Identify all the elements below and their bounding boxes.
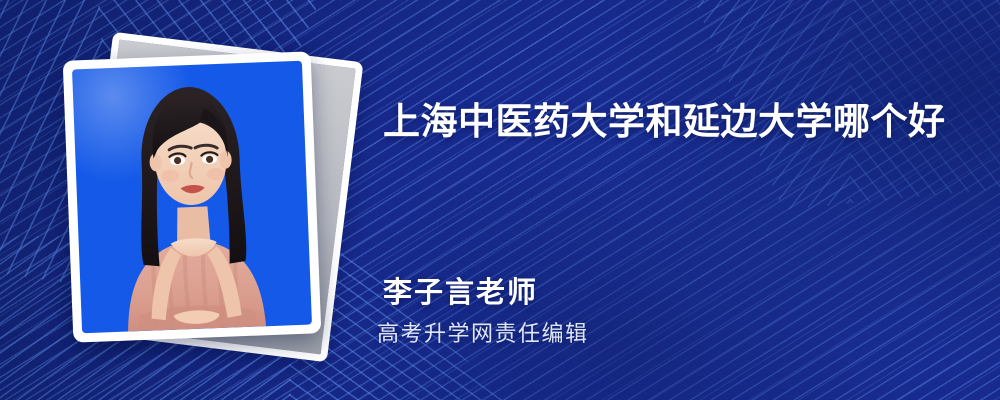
author-name: 李子言老师 [383, 275, 538, 311]
author-photo [72, 61, 312, 334]
page-title: 上海中医药大学和延边大学哪个好 [383, 97, 963, 147]
author-photo-stack [58, 42, 348, 362]
author-role: 高考升学网责任编辑 [377, 319, 589, 349]
portrait-illustration [72, 61, 312, 334]
article-author-banner: 上海中医药大学和延边大学哪个好 李子言老师 高考升学网责任编辑 [0, 0, 1000, 400]
photo-card-front [63, 51, 322, 342]
